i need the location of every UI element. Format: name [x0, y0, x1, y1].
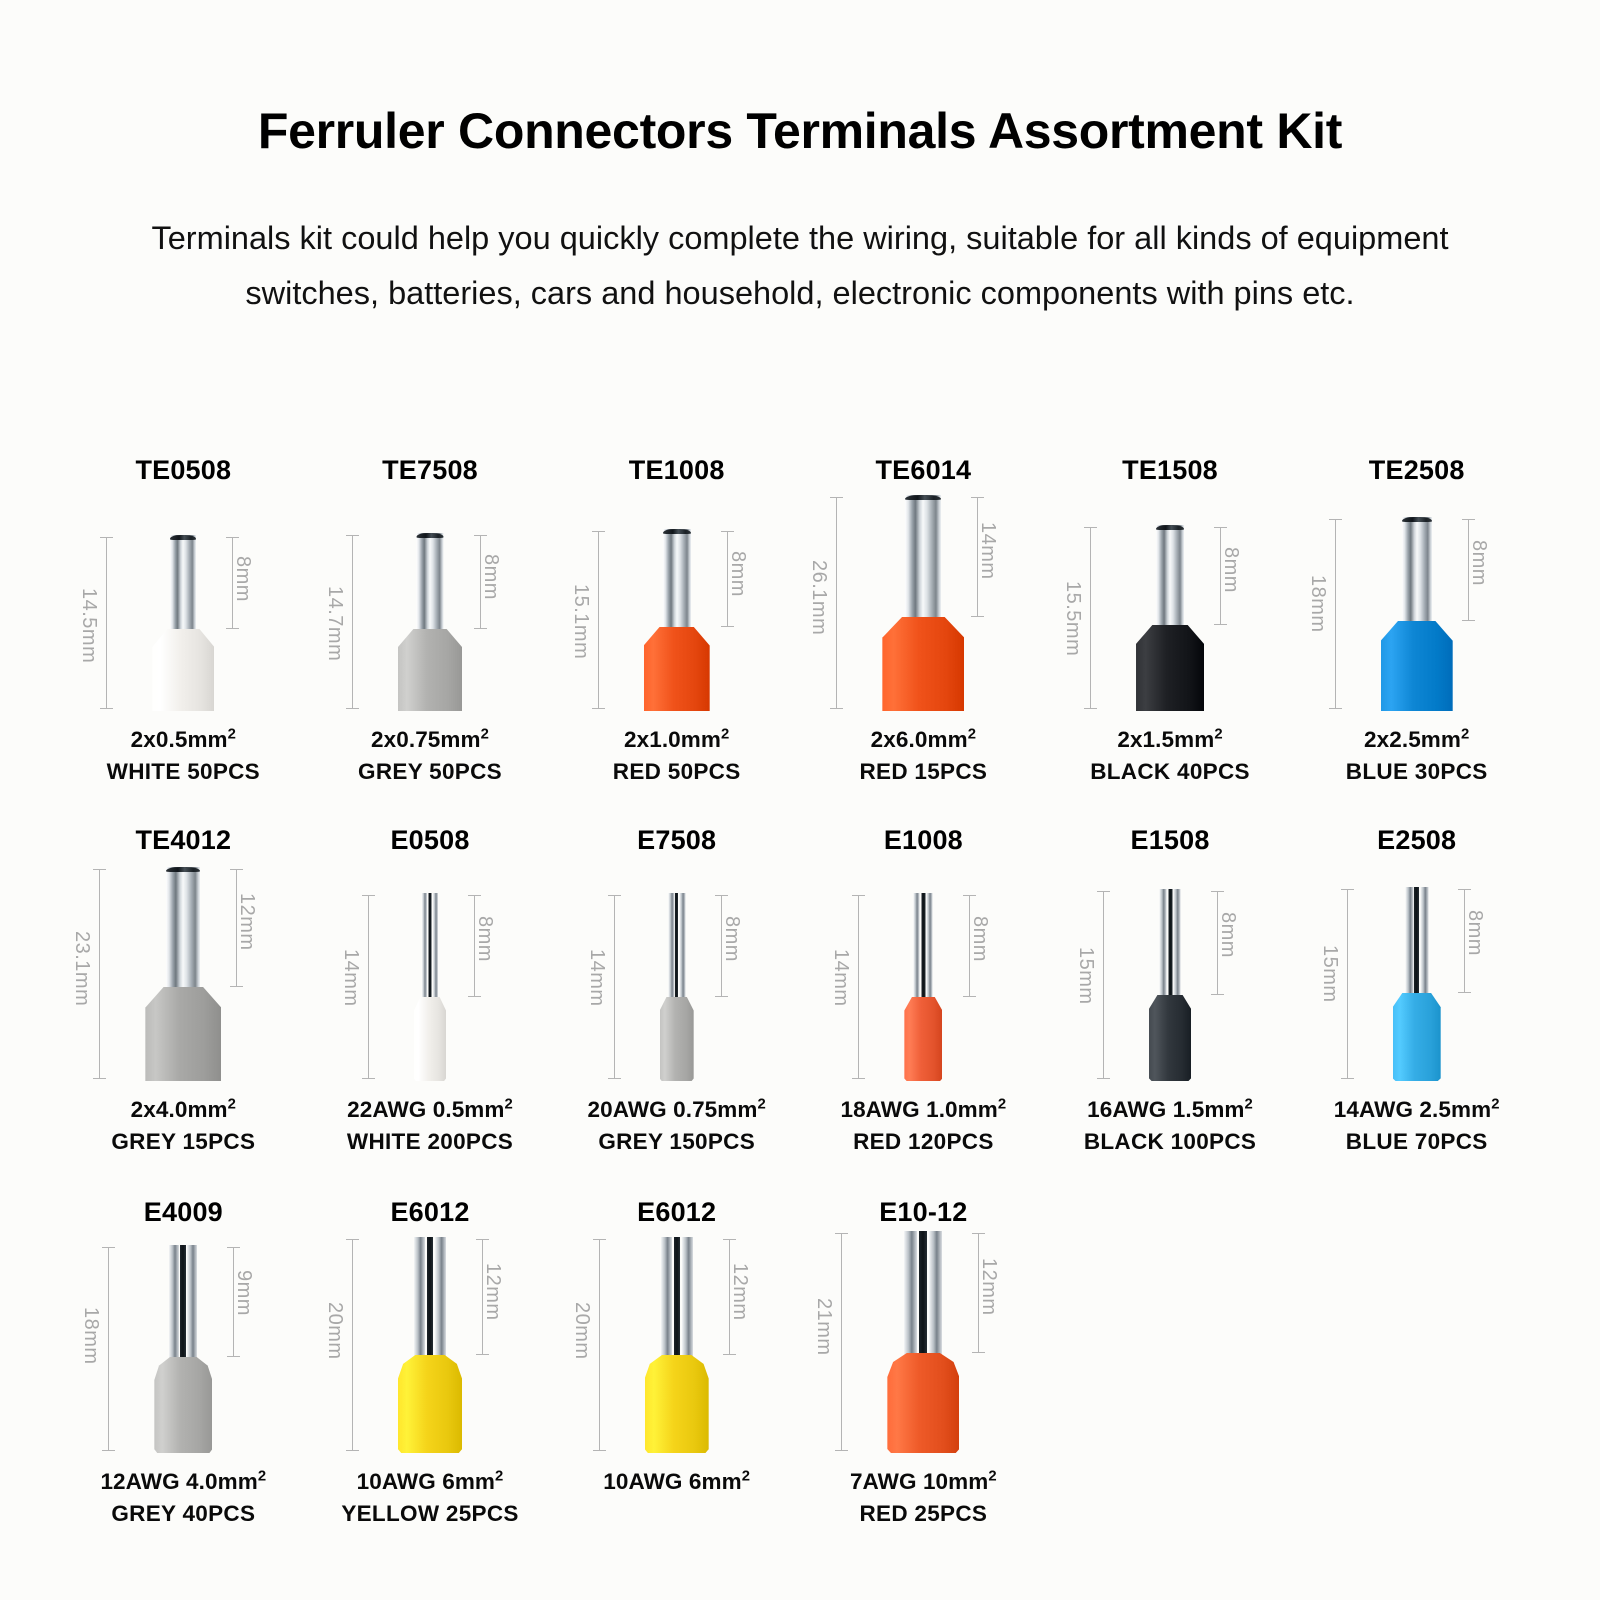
product-spec: 20AWG 0.75mm2 — [553, 1094, 800, 1126]
product-code: TE0508 — [60, 455, 307, 489]
ferrule-body: 26.1mm14mm — [807, 495, 1039, 711]
header: Ferruler Connectors Terminals Assortment… — [0, 0, 1600, 320]
ferrule-body: 23.1mm12mm — [70, 867, 296, 1081]
product-spec-exponent: 2 — [998, 1097, 1006, 1113]
infographic-page: Ferruler Connectors Terminals Assortment… — [0, 0, 1600, 1600]
metal-barrel — [169, 1245, 197, 1363]
total-length-label: 15.5mm — [1061, 581, 1084, 656]
product-spec: 10AWG 6mm2 — [553, 1466, 800, 1498]
total-length-dimension-line — [108, 1247, 109, 1451]
product-spec-exponent: 2 — [481, 727, 489, 743]
total-length-label: 18mm — [1306, 575, 1329, 633]
total-length-dimension-line — [99, 869, 100, 1079]
ferrule-drawing: 15mm8mm — [1047, 859, 1294, 1081]
product-quantity: GREY 50PCS — [307, 756, 554, 788]
ferrule-drawing: 14.5mm8mm — [60, 489, 307, 711]
plastic-collar — [145, 987, 221, 1081]
pin-length-label: 12mm — [977, 1258, 1000, 1316]
ferrule-body: 15.5mm8mm — [1061, 525, 1279, 711]
ferrule-body: 14mm8mm — [339, 893, 521, 1081]
product-spec: 16AWG 1.5mm2 — [1047, 1094, 1294, 1126]
product-caption: 2x2.5mm2BLUE 30PCS — [1293, 724, 1540, 788]
product-quantity: WHITE 200PCS — [307, 1126, 554, 1158]
total-length-label: 20mm — [323, 1302, 346, 1360]
pin-length-label: 12mm — [235, 893, 258, 951]
metal-barrel — [663, 529, 691, 633]
ferrule-drawing: 20mm12mm — [553, 1231, 800, 1453]
total-length-dimension-line — [1347, 889, 1348, 1079]
product-spec-text: 7AWG 10mm — [850, 1469, 988, 1494]
product-caption: 7AWG 10mm2RED 25PCS — [800, 1466, 1047, 1530]
total-length-dimension-line — [352, 1239, 353, 1451]
product-spec-text: 2x0.75mm — [371, 727, 481, 752]
product-code: TE2508 — [1293, 455, 1540, 489]
plastic-collar — [154, 1357, 212, 1453]
pin-length-label: 8mm — [720, 916, 743, 962]
product-spec: 7AWG 10mm2 — [800, 1466, 1047, 1498]
metal-barrel — [170, 535, 196, 635]
product-grid: TE050814.5mm8mm2x0.5mm2WHITE 50PCSTE7508… — [60, 455, 1540, 1577]
product-spec-text: 2x1.0mm — [624, 727, 721, 752]
metal-barrel — [914, 893, 933, 1003]
pin-length-label: 8mm — [1219, 547, 1242, 593]
product-spec: 2x0.5mm2 — [60, 724, 307, 756]
product-quantity: YELLOW 25PCS — [307, 1498, 554, 1530]
ferrule-drawing: 15mm8mm — [1293, 859, 1540, 1081]
product-code: E6012 — [307, 1197, 554, 1231]
ferrule-body: 15mm8mm — [1318, 887, 1516, 1081]
total-length-label: 14mm — [585, 949, 608, 1007]
product-cell: TE401223.1mm12mm2x4.0mm2GREY 15PCS — [60, 825, 307, 1197]
product-caption: 20AWG 0.75mm2GREY 150PCS — [553, 1094, 800, 1158]
product-code: E1008 — [800, 825, 1047, 859]
product-quantity: BLUE 70PCS — [1293, 1126, 1540, 1158]
ferrule-drawing: 26.1mm14mm — [800, 489, 1047, 711]
total-length-dimension-line — [1103, 891, 1104, 1079]
product-cell: E150815mm8mm16AWG 1.5mm2BLACK 100PCS — [1047, 825, 1294, 1197]
total-length-dimension-line — [841, 1233, 842, 1451]
pin-length-label: 8mm — [479, 554, 502, 600]
product-caption: 10AWG 6mm2 — [553, 1466, 800, 1498]
product-spec: 14AWG 2.5mm2 — [1293, 1094, 1540, 1126]
pin-length-label: 8mm — [473, 916, 496, 962]
ferrule-body: 18mm8mm — [1306, 517, 1528, 711]
metal-barrel — [668, 893, 685, 1003]
total-length-label: 14mm — [829, 949, 852, 1007]
plastic-collar — [645, 1355, 709, 1453]
ferrule-body: 14.5mm8mm — [77, 535, 289, 711]
product-spec-text: 12AWG 4.0mm — [100, 1469, 257, 1494]
total-length-label: 21mm — [812, 1298, 835, 1356]
product-spec-exponent: 2 — [1491, 1097, 1499, 1113]
product-caption: 22AWG 0.5mm2WHITE 200PCS — [307, 1094, 554, 1158]
product-caption: 10AWG 6mm2YELLOW 25PCS — [307, 1466, 554, 1530]
product-code: E1508 — [1047, 825, 1294, 859]
pin-length-label: 8mm — [231, 556, 254, 602]
product-cell: E601220mm12mm10AWG 6mm2 — [553, 1197, 800, 1577]
product-cell: TE050814.5mm8mm2x0.5mm2WHITE 50PCS — [60, 455, 307, 825]
product-spec: 22AWG 0.5mm2 — [307, 1094, 554, 1126]
ferrule-body: 14mm8mm — [829, 893, 1017, 1081]
product-code: TE6014 — [800, 455, 1047, 489]
product-spec-text: 14AWG 2.5mm — [1334, 1097, 1491, 1122]
product-cell: TE250818mm8mm2x2.5mm2BLUE 30PCS — [1293, 455, 1540, 825]
ferrule-drawing: 23.1mm12mm — [60, 859, 307, 1081]
ferrule-body: 14mm8mm — [585, 893, 769, 1081]
page-subtitle: Terminals kit could help you quickly com… — [90, 211, 1510, 320]
product-caption: 2x0.5mm2WHITE 50PCS — [60, 724, 307, 788]
total-length-label: 23.1mm — [70, 931, 93, 1006]
plastic-collar — [1393, 993, 1441, 1081]
product-cell: TE601426.1mm14mm2x6.0mm2RED 15PCS — [800, 455, 1047, 825]
product-cell: TE150815.5mm8mm2x1.5mm2BLACK 40PCS — [1047, 455, 1294, 825]
product-caption: 2x1.5mm2BLACK 40PCS — [1047, 724, 1294, 788]
total-length-label: 14.7mm — [323, 586, 346, 661]
ferrule-drawing: 21mm12mm — [800, 1231, 1047, 1453]
product-quantity: BLACK 40PCS — [1047, 756, 1294, 788]
ferrule-body: 21mm12mm — [812, 1231, 1034, 1453]
plastic-collar — [1149, 995, 1191, 1081]
product-caption: 14AWG 2.5mm2BLUE 70PCS — [1293, 1094, 1540, 1158]
plastic-collar — [414, 997, 446, 1081]
product-quantity: RED 120PCS — [800, 1126, 1047, 1158]
plastic-collar — [887, 1353, 959, 1453]
total-length-label: 15mm — [1318, 945, 1341, 1003]
product-cell: TE100815.1mm8mm2x1.0mm2RED 50PCS — [553, 455, 800, 825]
product-code: TE1508 — [1047, 455, 1294, 489]
product-code: E7508 — [553, 825, 800, 859]
product-caption: 2x1.0mm2RED 50PCS — [553, 724, 800, 788]
ferrule-drawing: 15.1mm8mm — [553, 489, 800, 711]
product-spec-text: 10AWG 6mm — [603, 1469, 741, 1494]
product-cell: E050814mm8mm22AWG 0.5mm2WHITE 200PCS — [307, 825, 554, 1197]
ferrule-body: 20mm12mm — [323, 1237, 537, 1453]
total-length-dimension-line — [836, 497, 837, 709]
product-spec-exponent: 2 — [228, 727, 236, 743]
product-spec-text: 2x0.5mm — [131, 727, 228, 752]
product-caption: 12AWG 4.0mm2GREY 40PCS — [60, 1466, 307, 1530]
product-code: E10-12 — [800, 1197, 1047, 1231]
product-spec-exponent: 2 — [505, 1097, 513, 1113]
product-code: E6012 — [553, 1197, 800, 1231]
total-length-label: 15mm — [1074, 947, 1097, 1005]
metal-barrel — [1160, 889, 1181, 1001]
product-spec-exponent: 2 — [1245, 1097, 1253, 1113]
product-spec-text: 18AWG 1.0mm — [840, 1097, 997, 1122]
total-length-dimension-line — [1090, 527, 1091, 709]
product-code: TE7508 — [307, 455, 554, 489]
total-length-dimension-line — [368, 895, 369, 1079]
pin-length-label: 8mm — [1463, 910, 1486, 956]
metal-barrel — [414, 1237, 446, 1361]
plastic-collar — [644, 627, 710, 711]
product-spec-text: 2x6.0mm — [871, 727, 968, 752]
ferrule-body: 20mm12mm — [570, 1237, 784, 1453]
product-row-1: TE050814.5mm8mm2x0.5mm2WHITE 50PCSTE7508… — [60, 455, 1540, 825]
product-code: E2508 — [1293, 825, 1540, 859]
total-length-dimension-line — [352, 535, 353, 709]
plastic-collar — [1381, 621, 1453, 711]
metal-barrel — [905, 495, 941, 623]
ferrule-drawing: 14mm8mm — [800, 859, 1047, 1081]
plastic-collar — [1136, 625, 1204, 711]
product-caption: 16AWG 1.5mm2BLACK 100PCS — [1047, 1094, 1294, 1158]
product-spec: 2x1.0mm2 — [553, 724, 800, 756]
pin-length-label: 12mm — [728, 1263, 751, 1321]
metal-barrel — [417, 533, 444, 635]
ferrule-body: 15.1mm8mm — [569, 529, 785, 711]
product-code: TE4012 — [60, 825, 307, 859]
product-cell: E10-1221mm12mm7AWG 10mm2RED 25PCS — [800, 1197, 1047, 1577]
product-spec: 2x2.5mm2 — [1293, 724, 1540, 756]
total-length-dimension-line — [599, 1239, 600, 1451]
product-quantity: WHITE 50PCS — [60, 756, 307, 788]
product-spec-exponent: 2 — [228, 1097, 236, 1113]
product-spec-text: 20AWG 0.75mm — [587, 1097, 757, 1122]
total-length-label: 14.5mm — [77, 588, 100, 663]
total-length-label: 18mm — [79, 1307, 102, 1365]
total-length-dimension-line — [614, 895, 615, 1079]
ferrule-drawing: 18mm8mm — [1293, 489, 1540, 711]
product-row-3: E400918mm9mm12AWG 4.0mm2GREY 40PCSE60122… — [60, 1197, 1540, 1577]
metal-barrel — [1156, 525, 1184, 631]
product-spec-exponent: 2 — [495, 1469, 503, 1485]
total-length-label: 14mm — [339, 949, 362, 1007]
product-spec-exponent: 2 — [742, 1469, 750, 1485]
product-row-2: TE401223.1mm12mm2x4.0mm2GREY 15PCSE05081… — [60, 825, 1540, 1197]
total-length-label: 26.1mm — [807, 560, 830, 635]
product-cell: TE750814.7mm8mm2x0.75mm2GREY 50PCS — [307, 455, 554, 825]
metal-barrel — [1402, 517, 1432, 627]
product-code: E4009 — [60, 1197, 307, 1231]
total-length-dimension-line — [598, 531, 599, 709]
product-spec-exponent: 2 — [1461, 727, 1469, 743]
pin-length-label: 8mm — [1467, 540, 1490, 586]
product-quantity: GREY 15PCS — [60, 1126, 307, 1158]
metal-barrel — [1405, 887, 1428, 999]
pin-length-label: 8mm — [1216, 912, 1239, 958]
product-quantity: RED 25PCS — [800, 1498, 1047, 1530]
product-code: E0508 — [307, 825, 554, 859]
plastic-collar — [398, 629, 462, 711]
total-length-dimension-line — [106, 537, 107, 709]
product-spec-exponent: 2 — [258, 1469, 266, 1485]
plastic-collar — [398, 1355, 462, 1453]
plastic-collar — [904, 997, 942, 1081]
product-quantity: BLUE 30PCS — [1293, 756, 1540, 788]
product-spec-exponent: 2 — [968, 727, 976, 743]
ferrule-drawing: 14.7mm8mm — [307, 489, 554, 711]
product-spec-text: 22AWG 0.5mm — [347, 1097, 504, 1122]
product-spec: 18AWG 1.0mm2 — [800, 1094, 1047, 1126]
total-length-label: 15.1mm — [569, 584, 592, 659]
ferrule-drawing: 18mm9mm — [60, 1231, 307, 1453]
total-length-dimension-line — [858, 895, 859, 1079]
product-spec: 2x1.5mm2 — [1047, 724, 1294, 756]
ferrule-body: 14.7mm8mm — [323, 533, 537, 711]
pin-length-label: 8mm — [726, 551, 749, 597]
product-spec: 2x4.0mm2 — [60, 1094, 307, 1126]
metal-barrel — [904, 1231, 942, 1359]
product-cell: E400918mm9mm12AWG 4.0mm2GREY 40PCS — [60, 1197, 307, 1577]
product-spec-exponent: 2 — [758, 1097, 766, 1113]
product-spec: 10AWG 6mm2 — [307, 1466, 554, 1498]
ferrule-body: 15mm8mm — [1074, 889, 1266, 1081]
product-spec: 2x0.75mm2 — [307, 724, 554, 756]
product-spec-exponent: 2 — [988, 1469, 996, 1485]
plastic-collar — [882, 617, 964, 711]
metal-barrel — [661, 1237, 693, 1361]
grid-spacer — [1047, 1197, 1294, 1577]
product-caption: 2x0.75mm2GREY 50PCS — [307, 724, 554, 788]
product-spec-exponent: 2 — [1214, 727, 1222, 743]
product-spec-text: 10AWG 6mm — [357, 1469, 495, 1494]
product-quantity: GREY 150PCS — [553, 1126, 800, 1158]
product-spec-text: 16AWG 1.5mm — [1087, 1097, 1244, 1122]
pin-length-label: 9mm — [232, 1270, 255, 1316]
plastic-collar — [660, 997, 694, 1081]
product-spec-text: 2x1.5mm — [1117, 727, 1214, 752]
pin-length-label: 8mm — [968, 916, 991, 962]
ferrule-drawing: 15.5mm8mm — [1047, 489, 1294, 711]
ferrule-drawing: 14mm8mm — [553, 859, 800, 1081]
product-quantity: RED 15PCS — [800, 756, 1047, 788]
product-quantity: GREY 40PCS — [60, 1498, 307, 1530]
product-caption: 18AWG 1.0mm2RED 120PCS — [800, 1094, 1047, 1158]
product-spec-text: 2x2.5mm — [1364, 727, 1461, 752]
total-length-dimension-line — [1335, 519, 1336, 709]
ferrule-drawing: 20mm12mm — [307, 1231, 554, 1453]
product-code: TE1008 — [553, 455, 800, 489]
metal-barrel — [166, 867, 200, 993]
product-quantity: RED 50PCS — [553, 756, 800, 788]
product-cell: E601220mm12mm10AWG 6mm2YELLOW 25PCS — [307, 1197, 554, 1577]
metal-barrel — [422, 893, 438, 1003]
page-title: Ferruler Connectors Terminals Assortment… — [0, 104, 1600, 159]
pin-length-label: 14mm — [976, 522, 999, 580]
ferrule-drawing: 14mm8mm — [307, 859, 554, 1081]
product-quantity: BLACK 100PCS — [1047, 1126, 1294, 1158]
product-cell: E100814mm8mm18AWG 1.0mm2RED 120PCS — [800, 825, 1047, 1197]
ferrule-body: 18mm9mm — [79, 1245, 287, 1453]
grid-spacer — [1293, 1197, 1540, 1577]
plastic-collar — [152, 629, 214, 711]
product-spec: 2x6.0mm2 — [800, 724, 1047, 756]
total-length-label: 20mm — [570, 1302, 593, 1360]
product-caption: 2x6.0mm2RED 15PCS — [800, 724, 1047, 788]
product-spec-exponent: 2 — [721, 727, 729, 743]
product-cell: E750814mm8mm20AWG 0.75mm2GREY 150PCS — [553, 825, 800, 1197]
product-caption: 2x4.0mm2GREY 15PCS — [60, 1094, 307, 1158]
product-spec: 12AWG 4.0mm2 — [60, 1466, 307, 1498]
pin-length-label: 12mm — [481, 1263, 504, 1321]
product-spec-text: 2x4.0mm — [131, 1097, 228, 1122]
product-cell: E250815mm8mm14AWG 2.5mm2BLUE 70PCS — [1293, 825, 1540, 1197]
